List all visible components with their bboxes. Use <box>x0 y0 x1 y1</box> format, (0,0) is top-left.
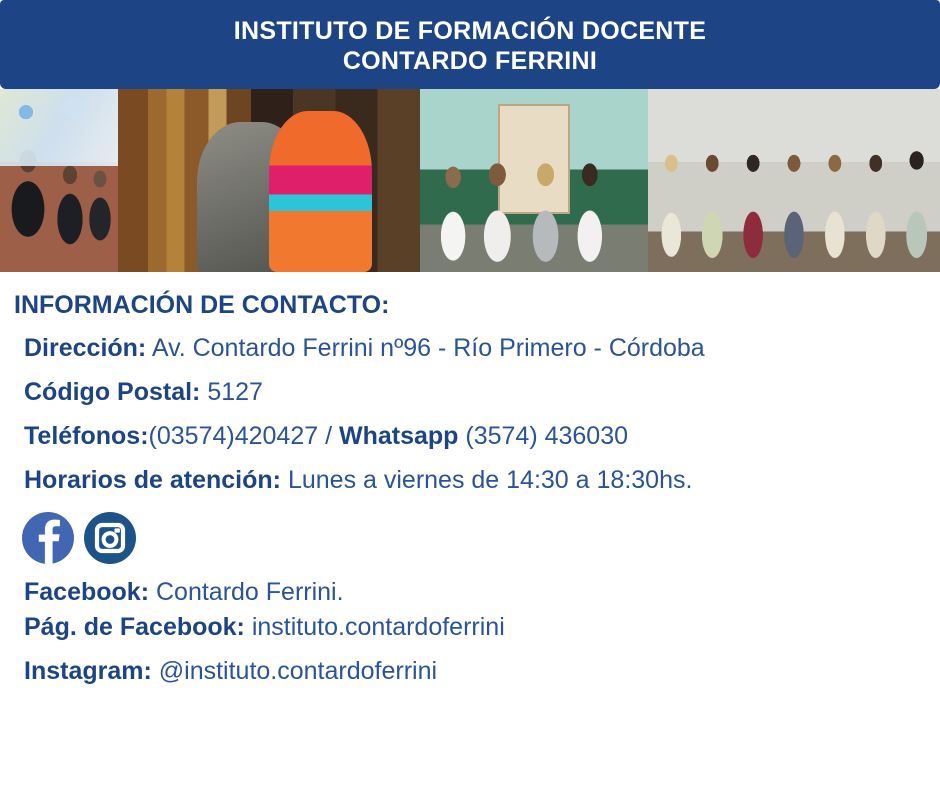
page-title-line-2: CONTARDO FERRINI <box>343 46 597 76</box>
page-title-line-1: INSTITUTO DE FORMACIÓN DOCENTE <box>234 16 706 46</box>
contact-line-address: Dirección: Av. Contardo Ferrini nº96 - R… <box>24 333 904 364</box>
photo-strip <box>0 89 940 272</box>
header-banner: INSTITUTO DE FORMACIÓN DOCENTE CONTARDO … <box>0 0 940 89</box>
section-title-contact-information: INFORMACIÓN DE CONTACTO: <box>14 290 940 320</box>
photo-students-hallway <box>0 89 118 272</box>
hours-value: Lunes a viernes de 14:30 a 18:30hs. <box>288 466 692 494</box>
postal-code-value: 5127 <box>207 378 263 406</box>
photo-students-library-computer <box>118 89 420 272</box>
phones-value: (03574)420427 / <box>149 422 339 450</box>
photo-graduation-group <box>648 89 940 272</box>
photo-group-classroom <box>420 89 648 272</box>
contact-line-instagram-handle: Instagram: @instituto.contardoferrini <box>24 656 904 687</box>
contact-line-postal-code: Código Postal: 5127 <box>24 377 904 408</box>
facebook-profile-label: Facebook: <box>24 578 149 606</box>
contact-line-facebook-profile: Facebook: Contardo Ferrini. <box>24 577 904 608</box>
address-value: Av. Contardo Ferrini nº96 - Río Primero … <box>152 334 705 362</box>
phones-label: Teléfonos: <box>24 422 149 450</box>
facebook-page-value: instituto.contardoferrini <box>252 613 505 641</box>
address-label: Dirección: <box>24 334 146 362</box>
instagram-icon[interactable] <box>84 512 136 564</box>
facebook-page-label: Pág. de Facebook: <box>24 613 245 641</box>
instagram-handle-label: Instagram: <box>24 657 152 685</box>
contact-line-phones: Teléfonos:(03574)420427 / Whatsapp (3574… <box>24 421 904 452</box>
contact-line-hours: Horarios de atención: Lunes a viernes de… <box>24 465 904 496</box>
social-info-list: Facebook: Contardo Ferrini. Pág. de Face… <box>0 577 940 687</box>
contact-information-section: INFORMACIÓN DE CONTACTO: Dirección: Av. … <box>0 272 940 687</box>
social-icons-row <box>22 512 940 564</box>
instagram-handle-value: @instituto.contardoferrini <box>159 657 437 685</box>
hours-label: Horarios de atención: <box>24 466 281 494</box>
whatsapp-label: Whatsapp <box>339 422 458 450</box>
facebook-profile-value: Contardo Ferrini. <box>156 578 344 606</box>
postal-code-label: Código Postal: <box>24 378 200 406</box>
contact-info-list: Dirección: Av. Contardo Ferrini nº96 - R… <box>0 333 940 496</box>
contact-line-facebook-page: Pág. de Facebook: instituto.contardoferr… <box>24 612 904 643</box>
facebook-icon[interactable] <box>22 512 74 564</box>
whatsapp-value: (3574) 436030 <box>458 422 628 450</box>
